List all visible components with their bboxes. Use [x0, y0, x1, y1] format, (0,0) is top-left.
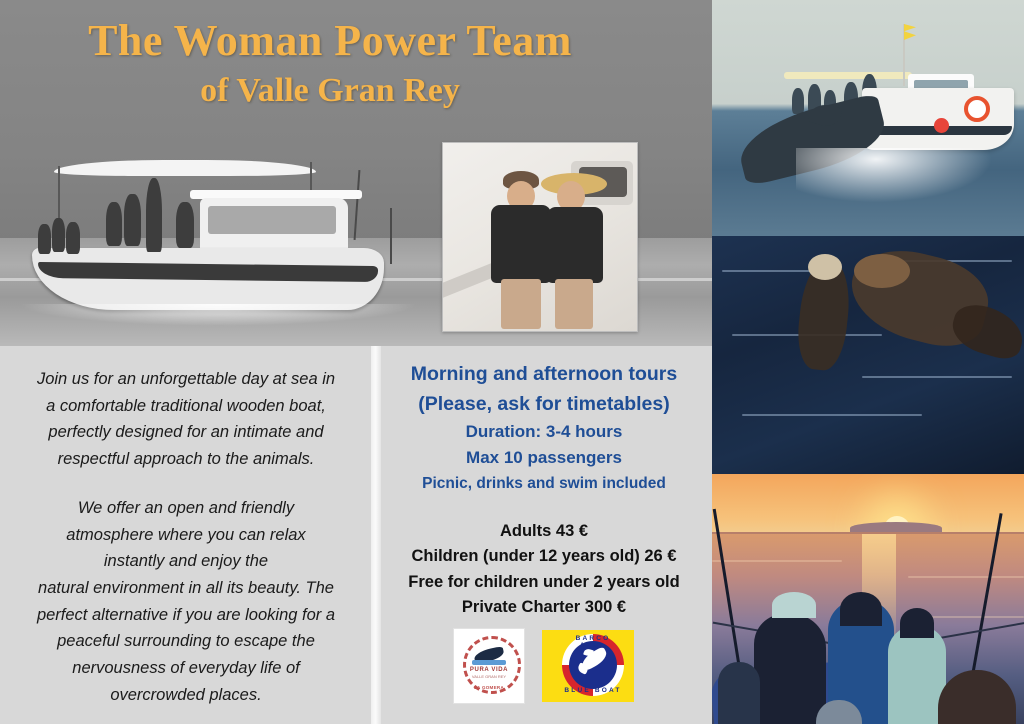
- boat-antenna-aft: [390, 208, 392, 264]
- description-line: respectful approach to the animals.: [6, 446, 366, 473]
- description-line: We offer an open and friendly: [6, 495, 366, 522]
- left-column: The Woman Power Team of Valle Gran Rey: [0, 0, 712, 724]
- crew-torso: [491, 205, 551, 283]
- passenger-silhouette: [124, 194, 141, 246]
- barco-azul-bottom-text: BLUE BOAT: [562, 687, 624, 694]
- poster-title: The Woman Power Team of Valle Gran Rey: [0, 18, 660, 110]
- description-line: atmosphere where you can relax: [6, 522, 366, 549]
- price-private-charter: Private Charter 300 €: [381, 595, 707, 620]
- passenger-silhouette: [66, 222, 80, 254]
- barco-azul-logo: BARCO AZUL BLUE BOAT: [542, 630, 634, 702]
- crew-legs: [555, 279, 593, 329]
- description-line: natural environment in all its beauty. T…: [6, 575, 366, 602]
- passenger-silhouette: [176, 202, 194, 248]
- water-splash: [796, 148, 996, 204]
- passenger-head: [840, 592, 882, 626]
- lifering-icon: [964, 96, 990, 122]
- passenger-hat-icon: [772, 592, 816, 618]
- boat-cabin-window: [208, 206, 336, 234]
- tour-details-block: Morning and afternoon tours (Please, ask…: [381, 360, 707, 620]
- photo-pilot-whales: [712, 236, 1024, 474]
- pura-vida-name: PURA VIDA: [454, 667, 524, 673]
- tour-line-timetables: (Please, ask for timetables): [381, 390, 707, 420]
- passenger-head: [900, 608, 934, 638]
- description-line: Join us for an unforgettable day at sea …: [6, 366, 366, 393]
- poster: The Woman Power Team of Valle Gran Rey: [0, 0, 1024, 724]
- column-divider: [371, 346, 381, 724]
- tour-line-capacity: Max 10 passengers: [381, 445, 707, 471]
- crew-legs: [501, 279, 541, 329]
- boat-bow: [36, 216, 98, 264]
- wave-icon: [472, 660, 506, 665]
- description-line: overcrowded places.: [6, 682, 366, 709]
- pura-vida-location: LA GOMERA: [454, 685, 524, 690]
- price-free-children: Free for children under 2 years old: [381, 570, 707, 595]
- description-line: peaceful surrounding to escape the: [6, 628, 366, 655]
- price-adults: Adults 43 €: [381, 519, 707, 544]
- buoy-icon: [934, 118, 949, 133]
- pura-vida-logo: PURA VIDA VALLE GRAN REY LA GOMERA: [454, 629, 524, 703]
- water-ripple: [862, 376, 1012, 378]
- price-block: Adults 43 € Children (under 12 years old…: [381, 519, 707, 620]
- bw-boat-illustration: [18, 150, 420, 330]
- description-line: a comfortable traditional wooden boat,: [6, 393, 366, 420]
- description-line: perfect alternative if you are looking f…: [6, 602, 366, 629]
- logo-row: PURA VIDA VALLE GRAN REY LA GOMERA BARCO…: [381, 618, 707, 713]
- tour-line-duration: Duration: 3-4 hours: [381, 419, 707, 445]
- water-ripple: [908, 576, 1024, 578]
- passenger-silhouette: [718, 662, 760, 724]
- price-children: Children (under 12 years old) 26 €: [381, 544, 707, 569]
- title-line-1: The Woman Power Team: [0, 18, 660, 64]
- boat-awning: [54, 160, 316, 176]
- water-ripple: [742, 414, 922, 416]
- whale-head: [808, 254, 842, 280]
- crew-torso: [547, 207, 603, 283]
- paragraph-spacer: [6, 473, 366, 495]
- title-line-2: of Valle Gran Rey: [0, 72, 660, 110]
- info-panel: Join us for an unforgettable day at sea …: [0, 346, 712, 724]
- passenger-silhouette: [38, 224, 51, 254]
- boat-awning: [784, 72, 912, 79]
- passenger-standing: [146, 178, 162, 252]
- boat-wake: [18, 304, 418, 326]
- passenger-silhouette: [792, 88, 804, 114]
- description-block: Join us for an unforgettable day at sea …: [6, 366, 366, 709]
- description-line: perfectly designed for an intimate and: [6, 419, 366, 446]
- water-ripple: [712, 560, 842, 562]
- pura-vida-subtitle: VALLE GRAN REY: [454, 674, 524, 679]
- flag-icon: [904, 24, 916, 40]
- passenger-silhouette: [754, 614, 826, 724]
- whale-tail-icon: [947, 299, 1024, 363]
- passenger-silhouette: [106, 202, 122, 246]
- boat-antenna: [354, 170, 361, 240]
- description-line: nervousness of everyday life of: [6, 655, 366, 682]
- tour-line-schedule: Morning and afternoon tours: [381, 360, 707, 390]
- whale-head: [854, 254, 910, 288]
- header-photo: The Woman Power Team of Valle Gran Rey: [0, 0, 712, 346]
- water-ripple: [922, 616, 1024, 618]
- description-line: instantly and enjoy the: [6, 548, 366, 575]
- barco-azul-top-text: BARCO AZUL: [562, 635, 624, 649]
- crew-photo: [442, 142, 638, 332]
- photo-column: [712, 0, 1024, 724]
- photo-dolphin-jump: [712, 0, 1024, 236]
- photo-sunset-cruise: [712, 474, 1024, 724]
- passenger-silhouette: [52, 218, 65, 252]
- tour-line-included: Picnic, drinks and swim included: [381, 472, 707, 495]
